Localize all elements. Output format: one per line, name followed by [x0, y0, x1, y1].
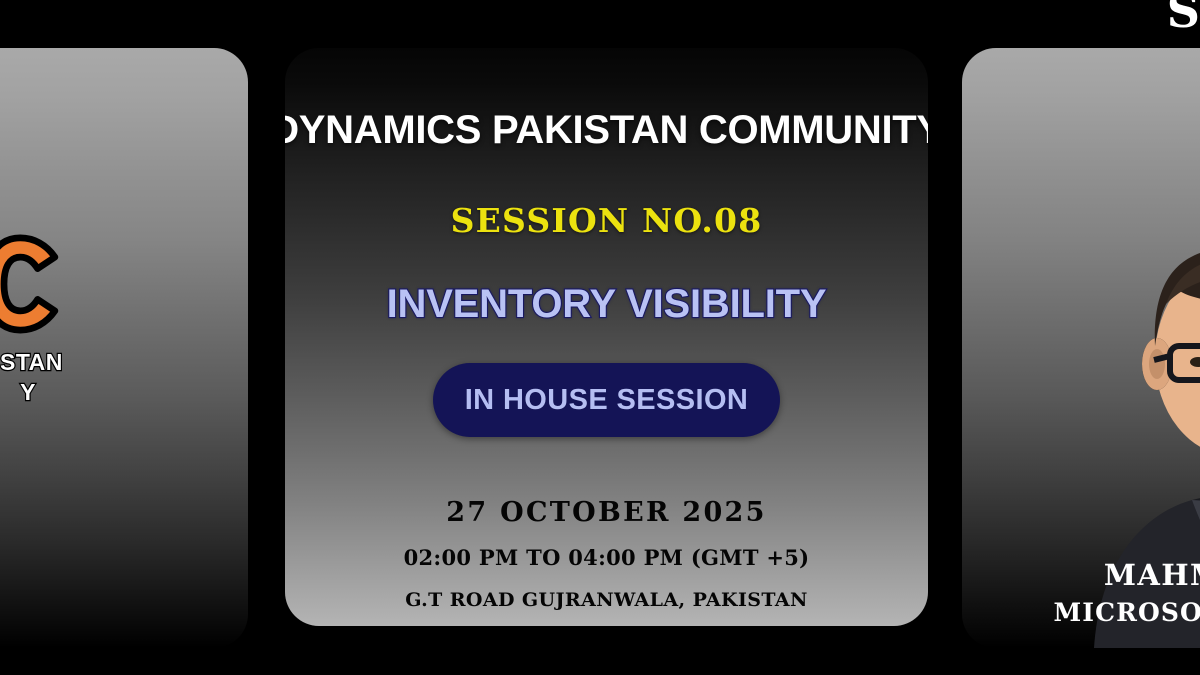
speaker-caption: MAHMO MICROSOFT MV	[962, 558, 1200, 627]
in-house-session-button[interactable]: IN HOUSE SESSION	[433, 363, 780, 437]
letter-c-logo-icon	[0, 234, 76, 334]
logo-text-line-1: ISTAN	[0, 348, 118, 376]
session-number-label: SESSION NO.08	[451, 201, 763, 240]
event-date: 27 OCTOBER 2025	[446, 497, 766, 528]
center-info-card: DYNAMICS PAKISTAN COMMUNITY SESSION NO.0…	[285, 48, 928, 626]
poster-canvas: ISTAN Y DYNAMICS PAKISTAN COMMUNITY SESS…	[0, 0, 1200, 675]
session-topic-title: INVENTORY VISIBILITY	[387, 282, 827, 327]
organization-title: DYNAMICS PAKISTAN COMMUNITY	[285, 108, 928, 153]
logo-text-line-2: Y	[0, 378, 118, 406]
speaker-role: MICROSOFT MV	[962, 598, 1200, 627]
speaker-name: MAHMO	[962, 558, 1200, 592]
event-location: G.T ROAD GUJRANWALA, PAKISTAN	[405, 589, 808, 611]
event-time: 02:00 PM TO 04:00 PM (GMT +5)	[404, 545, 810, 570]
corner-partial-glyph: S	[1167, 0, 1200, 34]
community-logo: ISTAN Y	[0, 234, 118, 406]
left-logo-card: ISTAN Y	[0, 48, 248, 648]
